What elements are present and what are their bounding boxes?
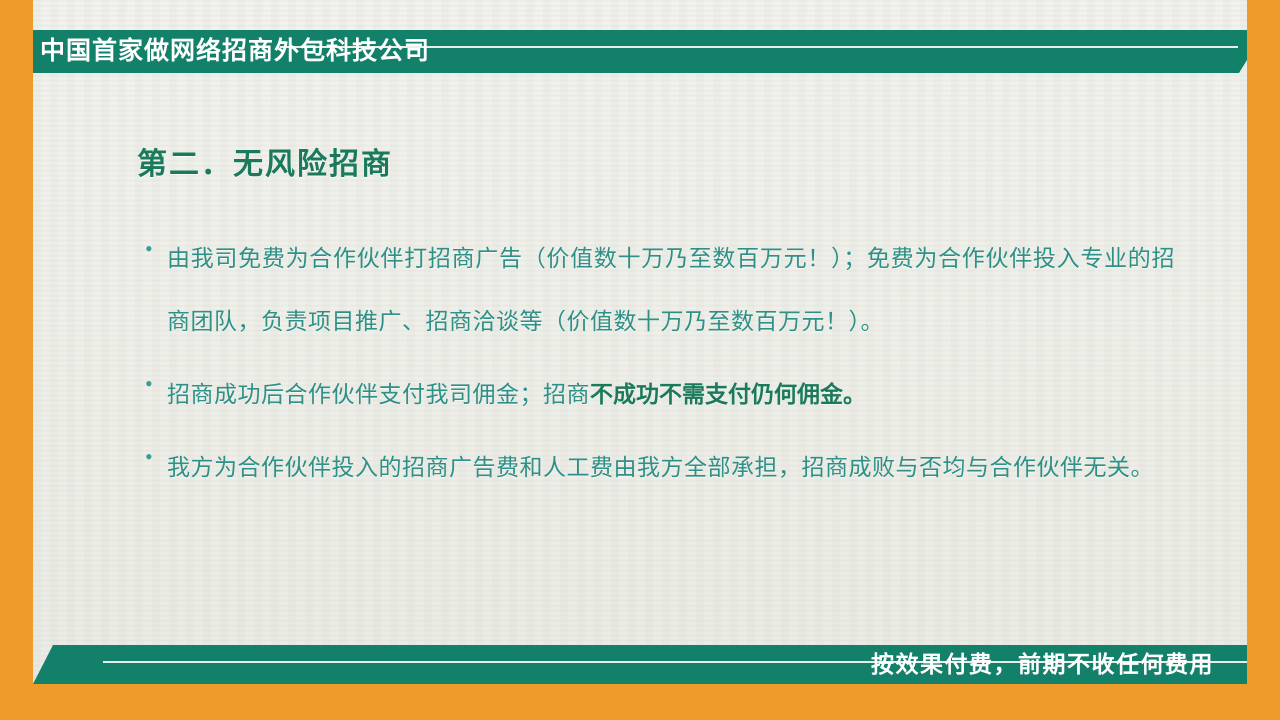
bullet-paragraph: 由我司免费为合作伙伴打招商广告（价值数十万乃至数百万元！）；免费为合作伙伴投入专… [167,228,1175,353]
list-item: • 招商成功后合作伙伴支付我司佣金；招商不成功不需支付仍何佣金。 [145,363,1175,426]
bullet-paragraph: 招商成功后合作伙伴支付我司佣金；招商不成功不需支付仍何佣金。 [167,363,1175,426]
header-title: 中国首家做网络招商外包科技公司 [40,36,430,67]
bullet-marker-icon: • [145,436,167,477]
bullet-text-plain: 由我司免费为合作伙伴打招商广告（价值数十万乃至数百万元！）；免费为合作伙伴投入专… [167,246,1175,334]
slide-canvas: 中国首家做网络招商外包科技公司 第二．无风险招商 • 由我司免费为合作伙伴打招商… [0,0,1280,720]
bullet-paragraph: 我方为合作伙伴投入的招商广告费和人工费由我方全部承担，招商成败与否均与合作伙伴无… [167,436,1175,499]
bullet-list: • 由我司免费为合作伙伴打招商广告（价值数十万乃至数百万元！）；免费为合作伙伴投… [145,228,1175,509]
bullet-marker-icon: • [145,363,167,404]
bullet-text-plain: 招商成功后合作伙伴支付我司佣金；招商 [167,382,590,407]
bullet-text-emphasis: 不成功不需支付仍何佣金。 [590,381,866,407]
bullet-marker-icon: • [145,228,167,269]
page-title: 第二．无风险招商 [137,139,393,183]
list-item: • 我方为合作伙伴投入的招商广告费和人工费由我方全部承担，招商成败与否均与合作伙… [145,436,1175,499]
footer-tagline: 按效果付费，前期不收任何费用 [871,648,1214,680]
bullet-text-plain: 我方为合作伙伴投入的招商广告费和人工费由我方全部承担，招商成败与否均与合作伙伴无… [167,455,1154,480]
list-item: • 由我司免费为合作伙伴打招商广告（价值数十万乃至数百万元！）；免费为合作伙伴投… [145,228,1175,353]
